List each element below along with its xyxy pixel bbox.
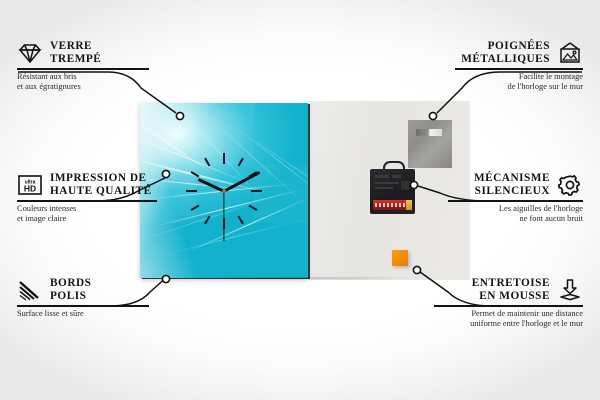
feature-subtitle: Les aiguilles de l'horloge ne font aucun… [448, 204, 583, 224]
feature-impression-haute-qualite: ultraHD IMPRESSION DE HAUTE QUALITÉ Coul… [17, 172, 157, 225]
feature-title: BORDS POLIS [50, 277, 91, 302]
feature-rule [448, 200, 583, 202]
foam-spacer-arrow-icon [557, 278, 583, 302]
feature-title: IMPRESSION DE HAUTE QUALITÉ [50, 172, 152, 197]
wall-hanger-frame-icon [557, 41, 583, 65]
feature-subtitle: Surface lisse et sûre [17, 309, 149, 319]
feature-rule [434, 305, 583, 307]
feature-subtitle: Facilite le montage de l'horloge sur le … [455, 72, 583, 92]
feature-rule [455, 68, 583, 70]
diamond-icon [17, 41, 43, 65]
feature-subtitle: Couleurs intenses et image claire [17, 204, 157, 224]
polished-edges-icon [17, 278, 43, 302]
product-shadow [134, 277, 474, 286]
glass-clock-panel [140, 103, 308, 278]
feature-title: MÉCANISME SILENCIEUX [474, 172, 550, 197]
feature-rule [17, 305, 149, 307]
gear-icon [557, 173, 583, 197]
feature-subtitle: Résistant aux bris et aux égratignures [17, 72, 149, 92]
feature-subtitle: Permet de maintenir une distance uniform… [434, 309, 583, 329]
feature-bords-polis: BORDS POLIS Surface lisse et sûre [17, 277, 149, 319]
infographic-canvas: VERRE TREMPÉ Résistant aux bris et aux é… [0, 0, 600, 400]
svg-text:HD: HD [24, 183, 36, 193]
feature-title: POIGNÉES MÉTALLIQUES [461, 40, 550, 65]
feature-title: ENTRETOISE EN MOUSSE [472, 277, 550, 302]
metal-hanger-plate [408, 120, 452, 168]
product-image [140, 103, 470, 278]
feature-entretoise-en-mousse: ENTRETOISE EN MOUSSE Permet de maintenir… [434, 277, 583, 330]
feature-title: VERRE TREMPÉ [50, 40, 101, 65]
feature-rule [17, 200, 157, 202]
ultra-hd-icon: ultraHD [17, 173, 43, 197]
foam-spacer [392, 250, 408, 266]
feature-rule [17, 68, 149, 70]
clock-hands-hub [222, 189, 226, 193]
feature-poignees-metalliques: POIGNÉES MÉTALLIQUES Facilite le montage… [455, 40, 583, 93]
feature-mecanisme-silencieux: MÉCANISME SILENCIEUX Les aiguilles de l'… [448, 172, 583, 225]
battery-label [375, 203, 405, 207]
hanger-plate-slot [416, 129, 442, 136]
feature-verre-trempe: VERRE TREMPÉ Résistant aux bris et aux é… [17, 40, 149, 93]
battery-positive-tip [406, 200, 412, 210]
